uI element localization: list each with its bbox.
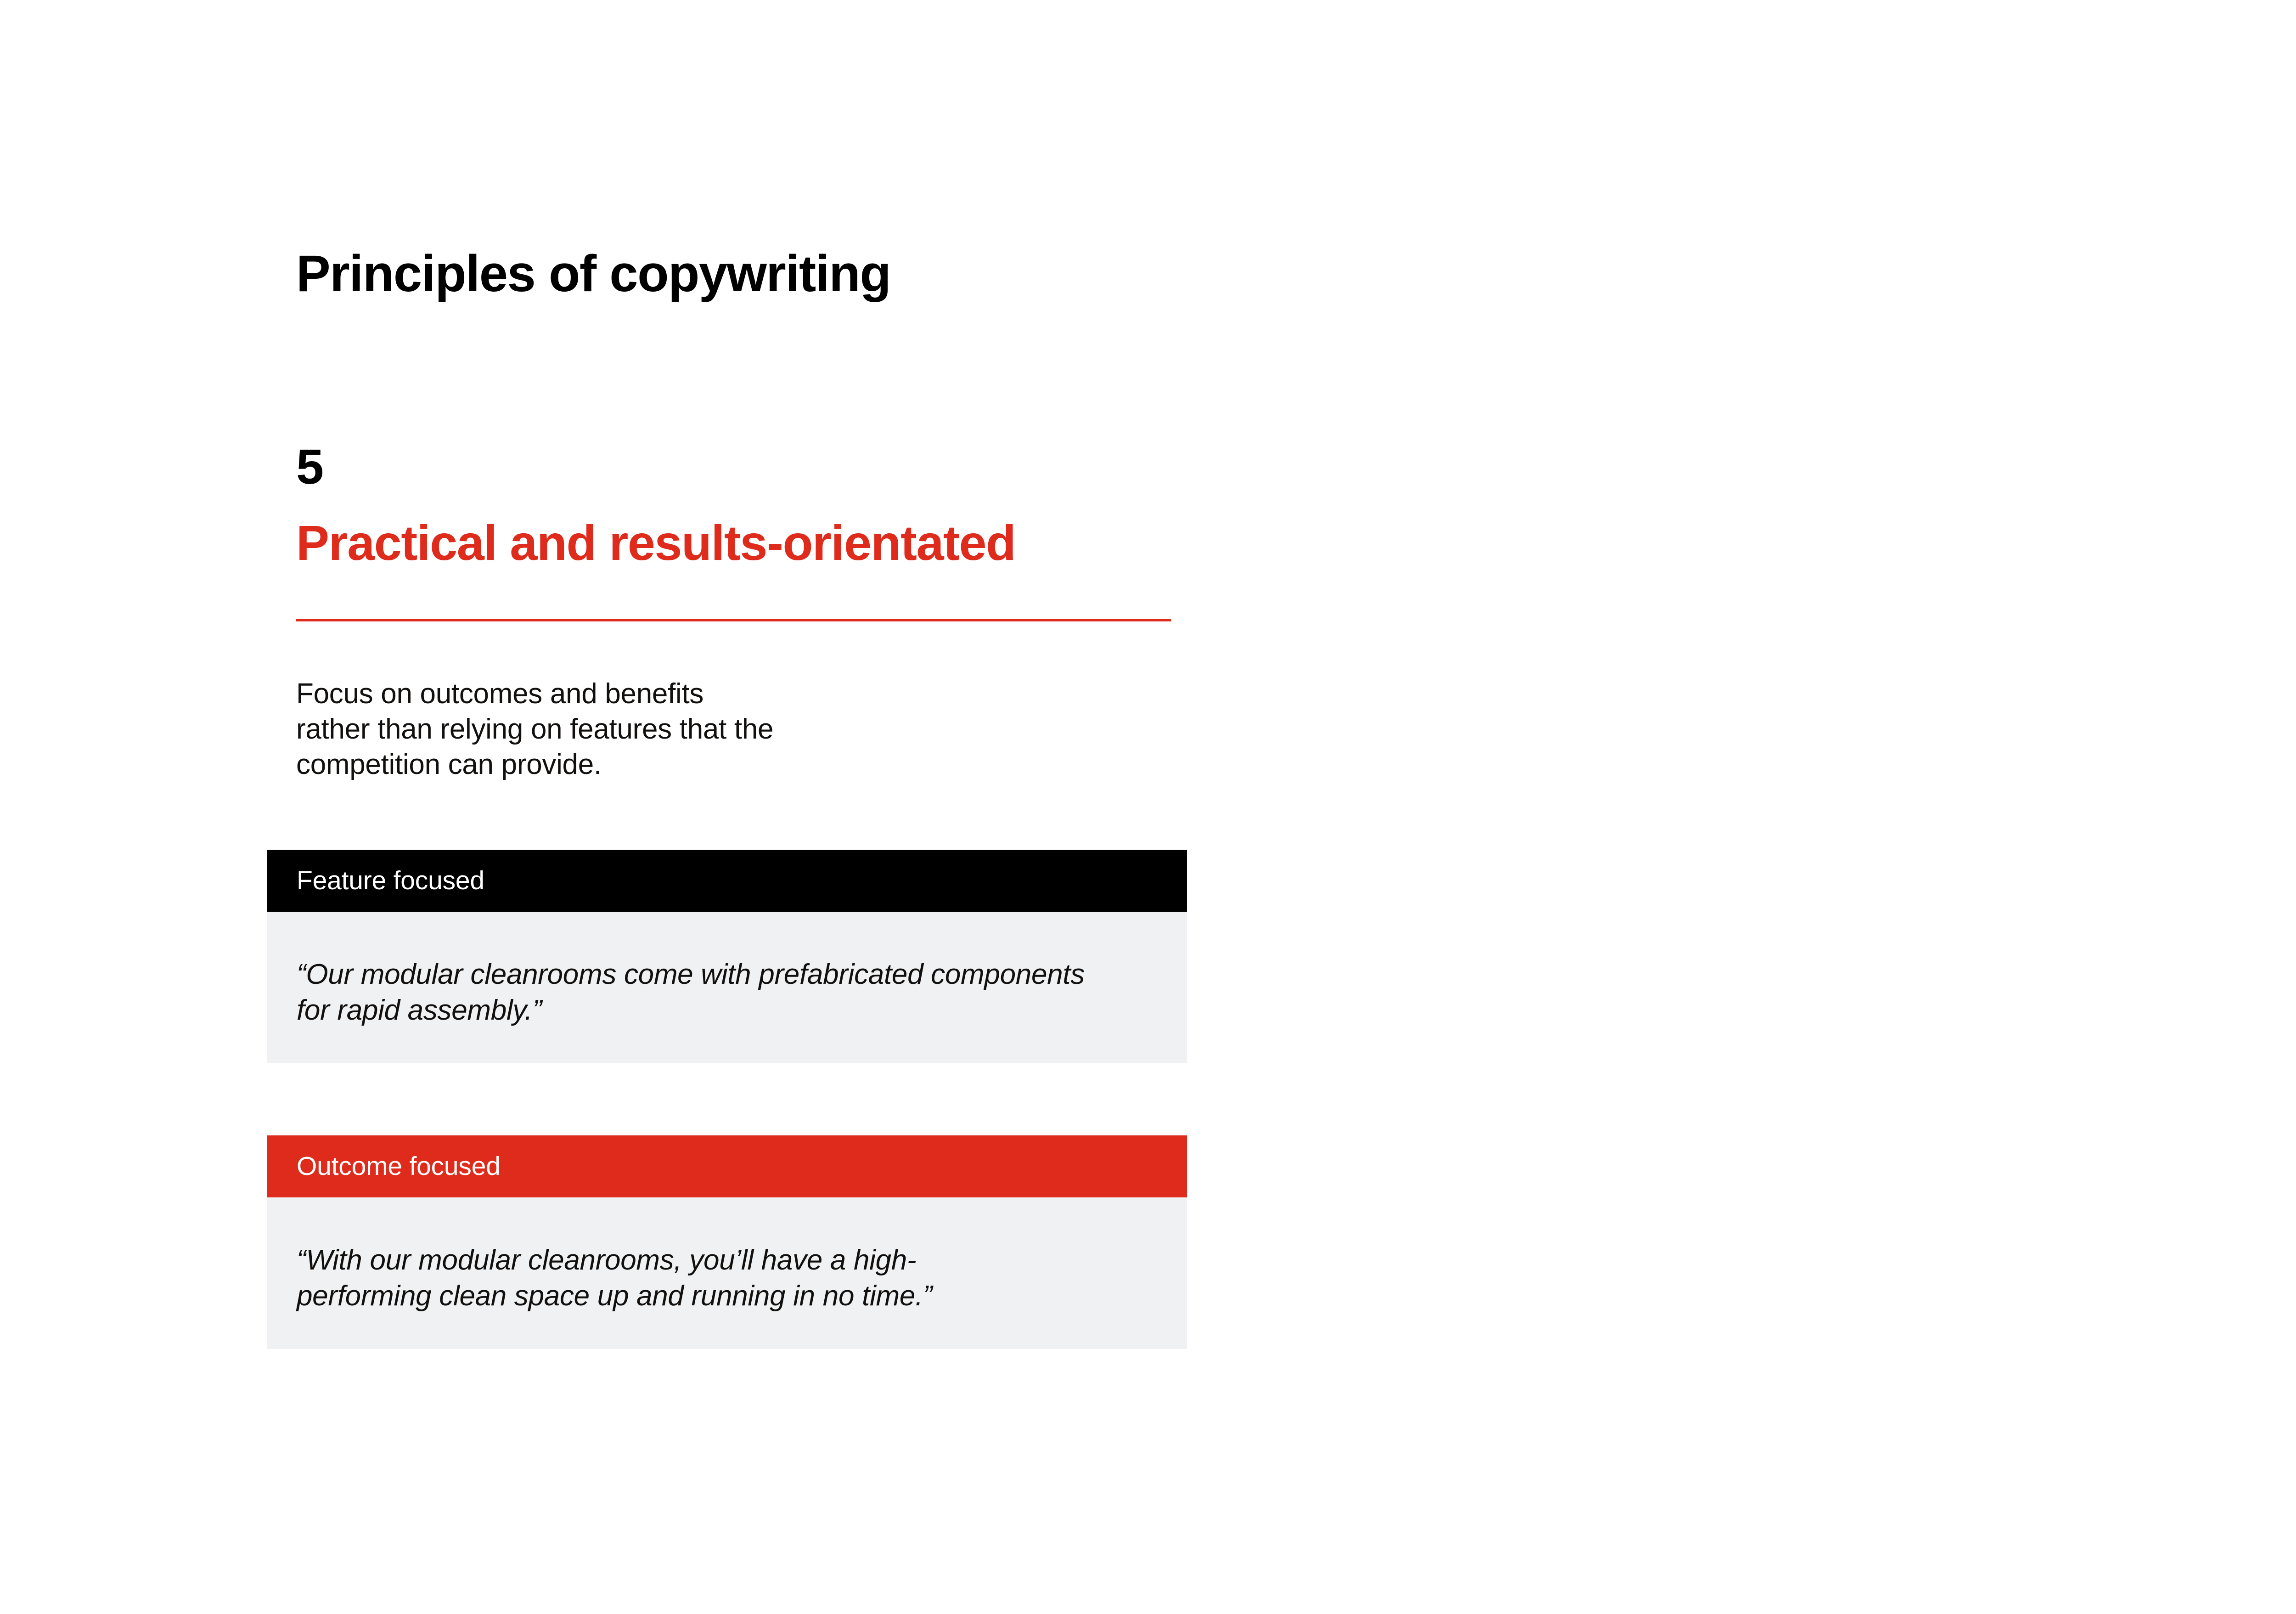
card-quote-line: for rapid assembly.” [297,993,1158,1028]
comparison-card-outcome-focused: Outcome focused “With our modular cleanr… [267,1135,1187,1349]
principle-body-line: competition can provide. [296,747,1169,782]
slide-canvas: Principles of copywriting 5 Practical an… [0,0,2296,1614]
card-quote-line: “Our modular cleanrooms come with prefab… [297,957,1158,993]
card-header-feature-focused: Feature focused [267,850,1187,912]
card-body-outcome-focused: “With our modular cleanrooms, you’ll hav… [267,1197,1187,1349]
card-header-label: Feature focused [297,868,484,894]
card-quote: “With our modular cleanrooms, you’ll hav… [297,1242,1158,1314]
principle-heading: Practical and results-orientated [296,518,1016,568]
page-title: Principles of copywriting [296,248,890,299]
principle-body-line: rather than relying on features that the [296,711,1169,747]
card-quote-line: performing clean space up and running in… [297,1278,1158,1314]
card-header-label: Outcome focused [297,1153,501,1179]
comparison-card-feature-focused: Feature focused “Our modular cleanrooms … [267,850,1187,1063]
card-quote-line: “With our modular cleanrooms, you’ll hav… [297,1242,1158,1278]
principle-number: 5 [296,442,323,491]
principle-body-line: Focus on outcomes and benefits [296,676,1169,711]
card-body-feature-focused: “Our modular cleanrooms come with prefab… [267,912,1187,1063]
card-quote: “Our modular cleanrooms come with prefab… [297,957,1158,1028]
principle-body: Focus on outcomes and benefits rather th… [296,676,1169,782]
card-header-outcome-focused: Outcome focused [267,1135,1187,1197]
divider-rule [296,619,1171,621]
